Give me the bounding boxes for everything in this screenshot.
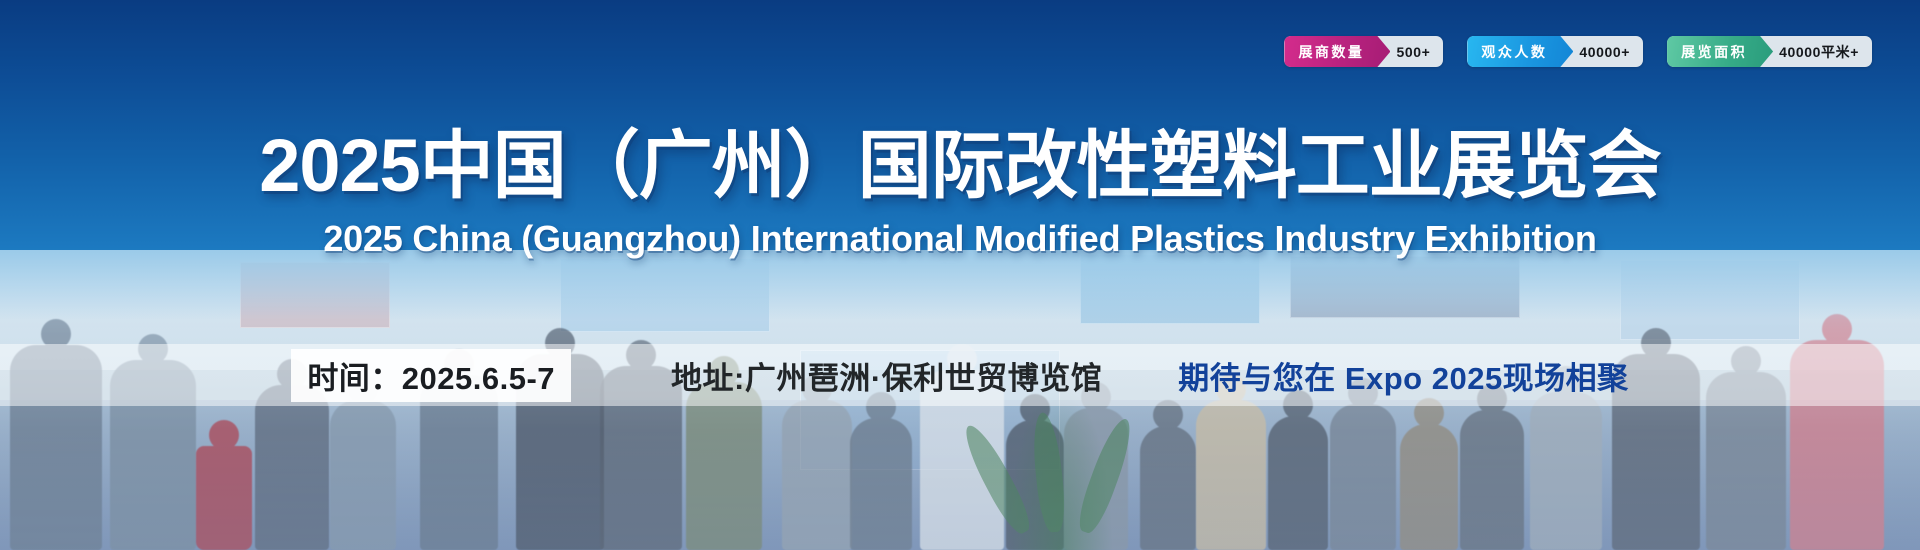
stat-badge-area-label: 展览面积 [1667, 36, 1773, 67]
exhibition-banner: 展商数量 500+ 观众人数 40000+ 展览面积 40000平米+ 2025… [0, 0, 1920, 550]
event-date: 时间：2025.6.5-7 [291, 349, 571, 402]
photo-top-fade [0, 250, 1920, 320]
event-venue: 地址:广州琶洲·保利世贸博览馆 [671, 353, 1102, 398]
stat-badge-exhibitors[interactable]: 展商数量 500+ [1284, 36, 1443, 67]
event-cta: 期待与您在 Expo 2025现场相聚 [1178, 353, 1628, 398]
stat-badge-visitors-label: 观众人数 [1467, 36, 1573, 67]
stat-badge-exhibitors-value: 500+ [1390, 36, 1443, 67]
stat-badge-exhibitors-label: 展商数量 [1284, 36, 1390, 67]
stat-badge-area-value: 40000平米+ [1773, 36, 1872, 67]
title-chinese: 2025中国（广州）国际改性塑料工业展览会 [0, 126, 1920, 206]
event-info-inner: 时间：2025.6.5-7 地址:广州琶洲·保利世贸博览馆 期待与您在 Expo… [0, 349, 1920, 402]
event-info-strip: 时间：2025.6.5-7 地址:广州琶洲·保利世贸博览馆 期待与您在 Expo… [0, 344, 1920, 406]
stat-badge-visitors[interactable]: 观众人数 40000+ [1467, 36, 1643, 67]
title-english: 2025 China (Guangzhou) International Mod… [0, 218, 1920, 260]
stat-badge-visitors-value: 40000+ [1573, 36, 1643, 67]
title-block: 2025中国（广州）国际改性塑料工业展览会 2025 China (Guangz… [0, 126, 1920, 260]
stat-badges: 展商数量 500+ 观众人数 40000+ 展览面积 40000平米+ [1284, 36, 1872, 67]
stat-badge-area[interactable]: 展览面积 40000平米+ [1667, 36, 1872, 67]
